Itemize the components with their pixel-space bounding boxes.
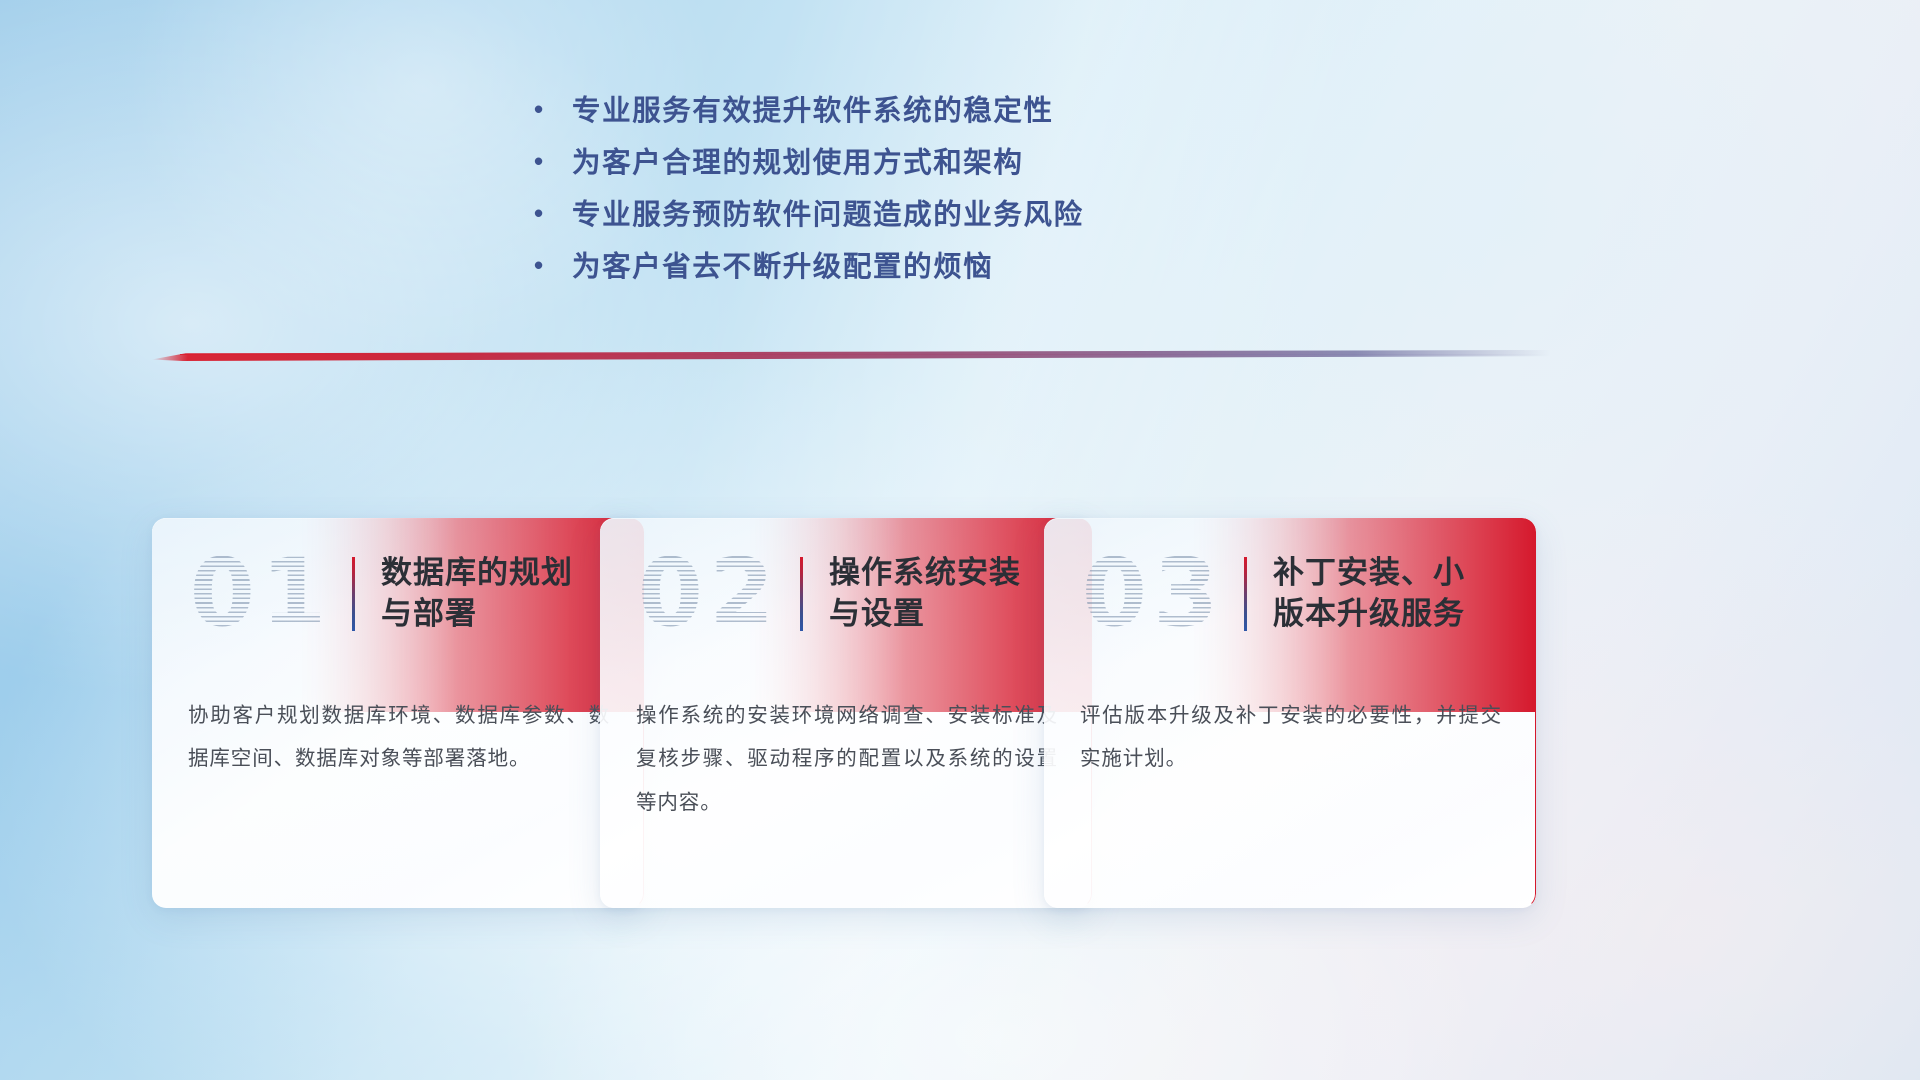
card-index-number: 03 <box>1044 547 1244 641</box>
bullet-dot-icon: • <box>534 200 572 226</box>
section-divider <box>152 350 1550 361</box>
card-divider-bar <box>352 557 355 631</box>
list-item: • 专业服务有效提升软件系统的稳定性 <box>534 88 1294 140</box>
service-card[interactable]: 02 操作系统安装与设置 操作系统的安装环境网络调查、安装标准及复核步骤、驱动程… <box>600 518 1092 908</box>
card-title: 数据库的规划与部署 <box>381 553 599 635</box>
list-item: • 专业服务预防软件问题造成的业务风险 <box>534 192 1294 244</box>
bullet-dot-icon: • <box>534 96 572 122</box>
card-header: 03 补丁安装、小版本升级服务 <box>1044 518 1536 670</box>
card-title: 补丁安装、小版本升级服务 <box>1273 553 1491 635</box>
list-item-label: 为客户合理的规划使用方式和架构 <box>572 140 1024 181</box>
list-item-label: 专业服务有效提升软件系统的稳定性 <box>572 88 1054 129</box>
service-card[interactable]: 01 数据库的规划与部署 协助客户规划数据库环境、数据库参数、数据库空间、数据库… <box>152 518 644 908</box>
divider-hairline <box>180 354 1550 355</box>
divider-tapered-band <box>152 350 1550 361</box>
service-card[interactable]: 03 补丁安装、小版本升级服务 评估版本升级及补丁安装的必要性，并提交实施计划。 <box>1044 518 1536 908</box>
card-description: 评估版本升级及补丁安装的必要性，并提交实施计划。 <box>1080 694 1502 781</box>
card-index-number: 01 <box>152 547 352 641</box>
bullet-dot-icon: • <box>534 148 572 174</box>
card-divider-bar <box>800 557 803 631</box>
card-description: 操作系统的安装环境网络调查、安装标准及复核步骤、驱动程序的配置以及系统的设置等内… <box>636 694 1058 824</box>
service-cards-row: 01 数据库的规划与部署 协助客户规划数据库环境、数据库参数、数据库空间、数据库… <box>0 518 1920 928</box>
list-item-label: 专业服务预防软件问题造成的业务风险 <box>572 192 1084 233</box>
card-header: 01 数据库的规划与部署 <box>152 518 644 670</box>
list-item: • 为客户合理的规划使用方式和架构 <box>534 140 1294 192</box>
card-title: 操作系统安装与设置 <box>829 553 1047 635</box>
card-header: 02 操作系统安装与设置 <box>600 518 1092 670</box>
card-description: 协助客户规划数据库环境、数据库参数、数据库空间、数据库对象等部署落地。 <box>188 694 610 781</box>
benefits-bullet-list: • 专业服务有效提升软件系统的稳定性 • 为客户合理的规划使用方式和架构 • 专… <box>534 88 1294 296</box>
card-divider-bar <box>1244 557 1247 631</box>
list-item: • 为客户省去不断升级配置的烦恼 <box>534 244 1294 296</box>
card-index-number: 02 <box>600 547 800 641</box>
bullet-dot-icon: • <box>534 252 572 278</box>
list-item-label: 为客户省去不断升级配置的烦恼 <box>572 244 993 285</box>
